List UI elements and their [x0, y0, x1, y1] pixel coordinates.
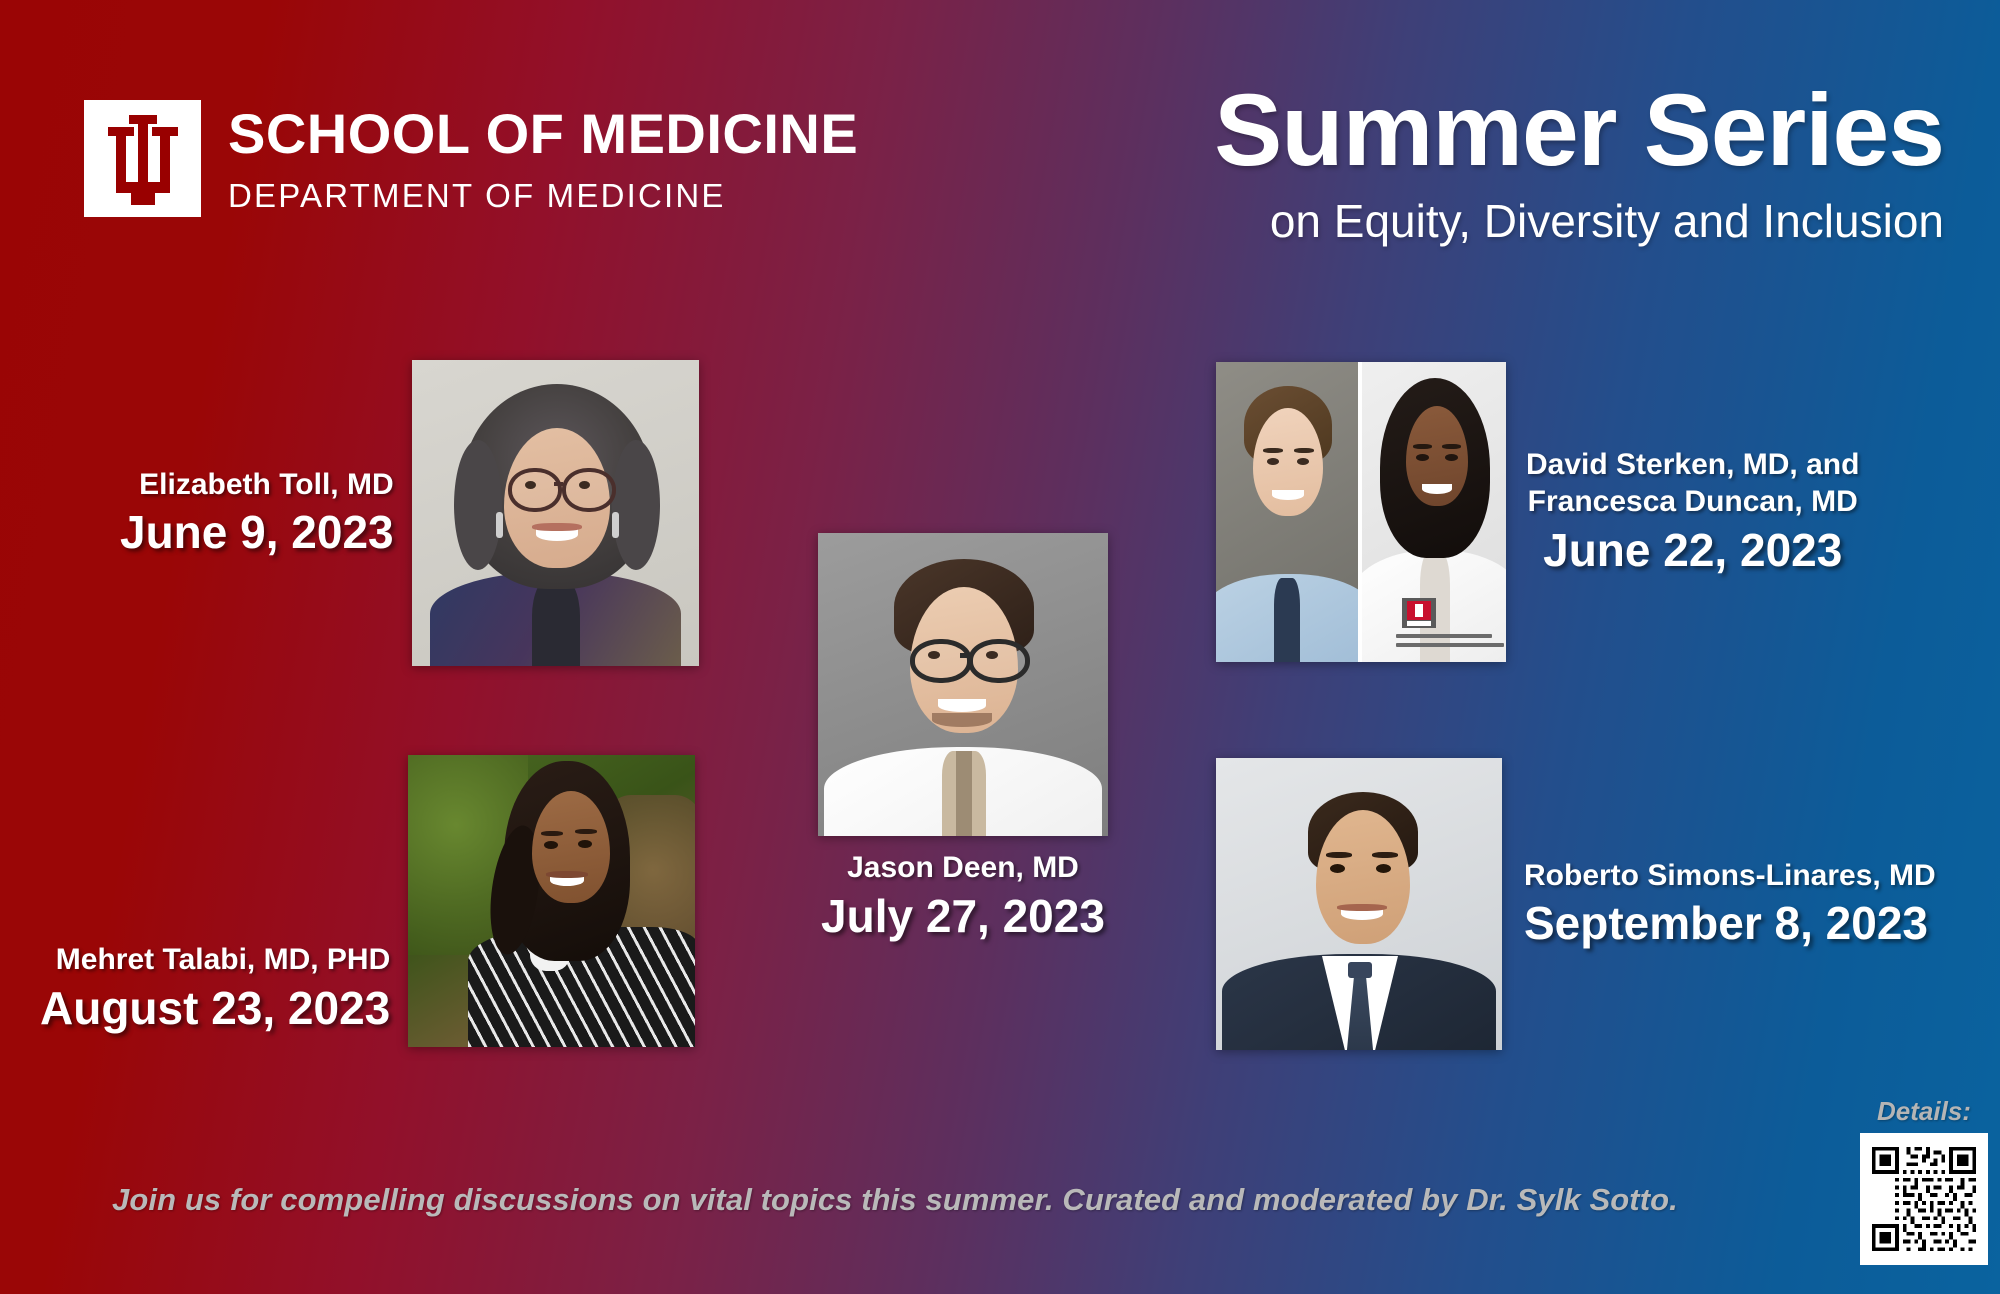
speaker-name-line-1: David Sterken, MD, and: [1526, 447, 1859, 484]
speaker-photo-sterken-duncan: [1216, 362, 1506, 662]
speaker-info: Mehret Talabi, MD, PHD August 23, 2023: [40, 767, 390, 1034]
page-subtitle: on Equity, Diversity and Inclusion: [1214, 196, 1944, 247]
title-block: Summer Series on Equity, Diversity and I…: [1214, 78, 1944, 247]
organization-name: SCHOOL OF MEDICINE: [228, 106, 858, 162]
speaker-card-roberto-simons-linares: Roberto Simons-Linares, MD September 8, …: [1216, 758, 1936, 1050]
page-title: Summer Series: [1214, 78, 1944, 182]
speaker-card-sterken-duncan: David Sterken, MD, and Francesca Duncan,…: [1216, 362, 1859, 662]
speaker-info: Elizabeth Toll, MD June 9, 2023: [120, 467, 394, 559]
speaker-photo-mehret-talabi: [408, 755, 695, 1047]
details-label: Details:: [1860, 1098, 1988, 1124]
speaker-name: Elizabeth Toll, MD: [120, 467, 394, 504]
portrait-david-sterken: [1216, 362, 1358, 662]
poster-header: SCHOOL OF MEDICINE DEPARTMENT OF MEDICIN…: [0, 0, 2000, 290]
speaker-info: David Sterken, MD, and Francesca Duncan,…: [1526, 447, 1859, 576]
speaker-photo-elizabeth-toll: [412, 360, 699, 666]
speaker-card-elizabeth-toll: Elizabeth Toll, MD June 9, 2023: [120, 360, 699, 666]
speaker-card-mehret-talabi: Mehret Talabi, MD, PHD August 23, 2023: [40, 755, 695, 1047]
speaker-info: Jason Deen, MD July 27, 2023: [821, 850, 1105, 942]
speaker-name: Roberto Simons-Linares, MD: [1524, 858, 1936, 895]
footer-note: Join us for compelling discussions on vi…: [112, 1182, 1678, 1218]
iu-branding: SCHOOL OF MEDICINE DEPARTMENT OF MEDICIN…: [84, 100, 858, 217]
iu-health-logo-icon: [1402, 598, 1436, 628]
details-block: Details:: [1860, 1098, 1988, 1265]
speaker-photo-jason-deen: [818, 533, 1108, 836]
portrait-francesca-duncan: [1362, 362, 1506, 662]
iu-wordmark: SCHOOL OF MEDICINE DEPARTMENT OF MEDICIN…: [228, 100, 858, 212]
iu-trident-logo-icon: [84, 100, 201, 217]
speaker-name: Mehret Talabi, MD, PHD: [40, 942, 390, 979]
speaker-name: Jason Deen, MD: [821, 850, 1105, 887]
speaker-card-jason-deen: Jason Deen, MD July 27, 2023: [818, 533, 1108, 942]
speaker-info: Roberto Simons-Linares, MD September 8, …: [1524, 858, 1936, 950]
department-name: DEPARTMENT OF MEDICINE: [228, 179, 858, 212]
qr-code-icon[interactable]: [1860, 1133, 1988, 1265]
speaker-date: September 8, 2023: [1524, 897, 1936, 950]
speaker-date: July 27, 2023: [821, 890, 1105, 943]
speaker-date: June 22, 2023: [1526, 524, 1859, 577]
speaker-photo-roberto-simons-linares: [1216, 758, 1502, 1050]
poster-canvas: SCHOOL OF MEDICINE DEPARTMENT OF MEDICIN…: [0, 0, 2000, 1294]
speaker-name-line-2: Francesca Duncan, MD: [1526, 484, 1859, 521]
speaker-date: June 9, 2023: [120, 506, 394, 559]
speaker-date: August 23, 2023: [40, 982, 390, 1035]
